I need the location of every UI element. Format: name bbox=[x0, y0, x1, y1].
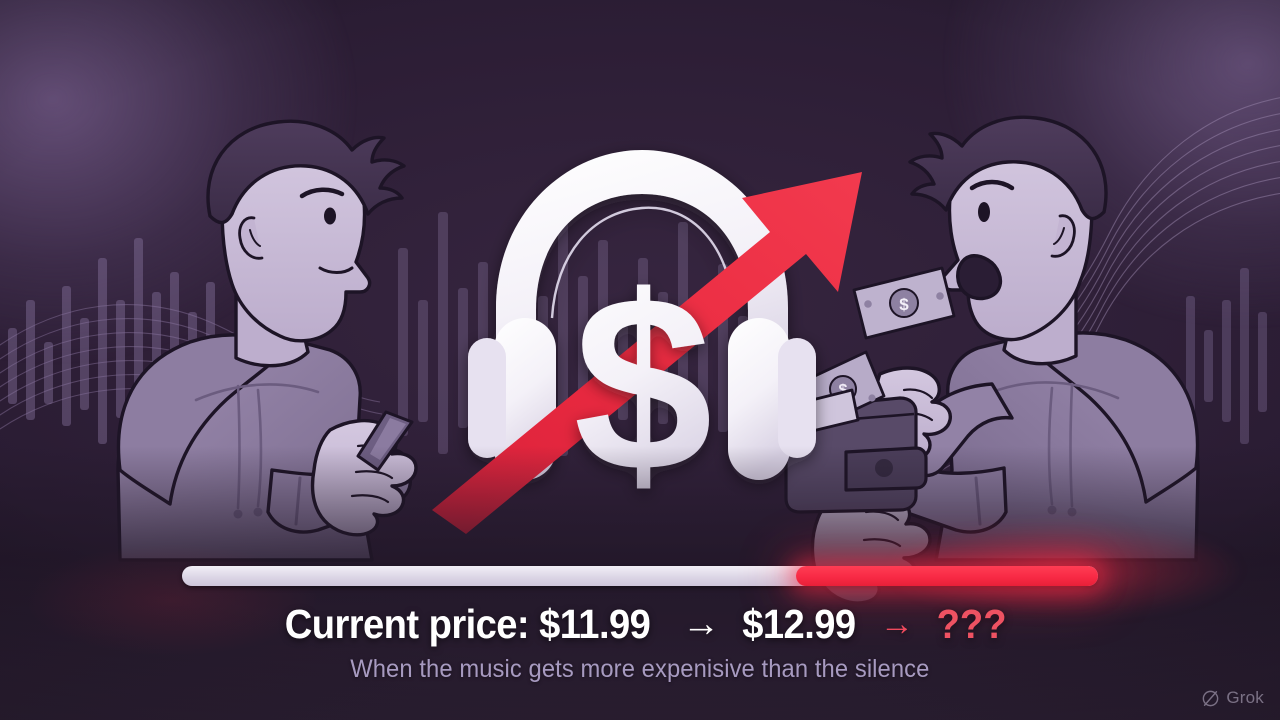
grok-watermark: Grok bbox=[1201, 688, 1264, 708]
subtitle-text: When the music gets more expenisive than… bbox=[350, 655, 929, 684]
subtitle: When the music gets more expenisive than… bbox=[0, 655, 1280, 684]
unknown-price-label: ??? bbox=[936, 604, 1006, 645]
arrow-1-icon: → bbox=[664, 605, 738, 643]
grok-watermark-text: Grok bbox=[1226, 688, 1264, 708]
illustration-canvas: $ $ bbox=[0, 0, 1280, 720]
current-price-label: Current price: $11.99 bbox=[285, 604, 651, 645]
next-price-label: $12.99 bbox=[742, 604, 855, 645]
progress-fill bbox=[796, 566, 1098, 586]
arrow-2-icon: → bbox=[860, 607, 934, 641]
price-progress-bar[interactable] bbox=[182, 566, 1098, 586]
grok-logo-icon bbox=[1201, 689, 1220, 708]
headline-row: Current price: $11.99 → $12.99 → ??? bbox=[0, 598, 1280, 650]
